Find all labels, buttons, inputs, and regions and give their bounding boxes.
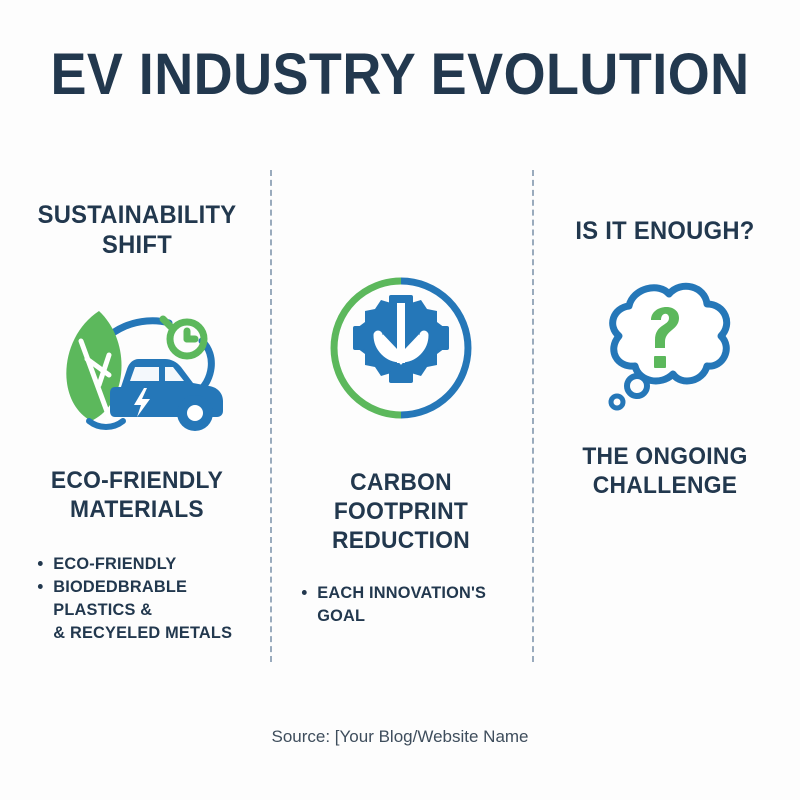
column-1-bullet-list: ECO-FRIENDLY BIODEDBRABLE PLASTICS & & R… — [36, 552, 264, 644]
thought-cloud-question-mark-icon — [538, 268, 792, 418]
list-item: & RECYELED METALS — [36, 621, 255, 644]
list-item: ECO-FRIENDLY — [36, 552, 255, 575]
column-1-heading-bottom-line-1: ECO-FRIENDLY — [16, 466, 257, 495]
gear-down-arrow-circle-icon — [276, 268, 526, 428]
column-1-heading-top: SUSTAINABILITY SHIFT — [16, 200, 257, 260]
column-1-heading-top-line-2: SHIFT — [16, 230, 257, 260]
infographic-canvas: EV INDUSTRY EVOLUTION SUSTAINABILITY SHI… — [0, 0, 800, 800]
column-3-heading-bottom-line-2: CHALLENGE — [544, 471, 785, 500]
column-2-heading-bottom-line-2: REDUCTION — [282, 526, 520, 555]
column-1-heading-top-line-1: SUSTAINABILITY — [16, 200, 257, 230]
column-divider-left — [270, 170, 272, 662]
source-caption: Source: [Your Blog/Website Name — [0, 727, 800, 747]
column-3-heading-top: IS IT ENOUGH? — [544, 216, 785, 246]
leaf-ev-car-charging-icon — [10, 284, 264, 444]
column-is-it-enough: IS IT ENOUGH? THE ONGOING CHALLENGE — [538, 200, 792, 500]
list-item: EACH INNOVATION'S GOAL — [300, 581, 517, 627]
column-carbon-footprint-reduction: CARBON FOOTPRINT REDUCTION EACH INNOVATI… — [276, 200, 526, 627]
column-3-heading-top-line-1: IS IT ENOUGH? — [544, 216, 785, 246]
column-1-heading-bottom: ECO-FRIENDLY MATERIALS — [16, 466, 257, 524]
column-2-heading-bottom: CARBON FOOTPRINT REDUCTION — [282, 468, 520, 555]
page-title: EV INDUSTRY EVOLUTION — [28, 44, 772, 106]
column-3-heading-bottom-line-1: THE ONGOING — [544, 442, 785, 471]
column-divider-right — [532, 170, 534, 662]
column-sustainability-shift: SUSTAINABILITY SHIFT — [10, 200, 264, 644]
column-2-heading-bottom-line-1: CARBON FOOTPRINT — [282, 468, 520, 526]
list-item: BIODEDBRABLE PLASTICS & — [36, 575, 255, 621]
column-1-heading-bottom-line-2: MATERIALS — [16, 495, 257, 524]
column-3-heading-bottom: THE ONGOING CHALLENGE — [544, 442, 785, 500]
column-2-bullet-list: EACH INNOVATION'S GOAL — [300, 581, 526, 627]
